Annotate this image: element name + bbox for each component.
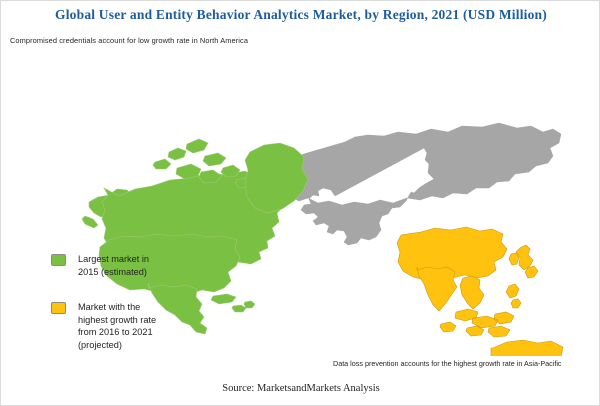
country-korea	[509, 253, 519, 265]
legend-label-green: Largest market in 2015 (estimated)	[78, 253, 149, 278]
country-philippines	[506, 284, 521, 308]
legend-item-largest-market: Largest market in 2015 (estimated)	[51, 253, 201, 278]
legend-orange-line2: highest growth rate	[78, 314, 156, 327]
country-japan	[516, 245, 538, 278]
legend-label-orange: Market with the highest growth rate from…	[78, 301, 156, 351]
country-india	[417, 267, 457, 311]
legend-swatch-green	[51, 254, 66, 266]
apac-annotation: Data loss prevention accounts for the hi…	[333, 359, 583, 368]
map-region-rest-of-world	[286, 123, 561, 245]
region-indonesia	[440, 309, 514, 337]
country-greenland	[245, 143, 308, 213]
legend-orange-line1: Market with the	[78, 301, 156, 314]
chart-container: Global User and Entity Behavior Analytic…	[0, 0, 600, 406]
legend-item-highest-growth: Market with the highest growth rate from…	[51, 301, 201, 351]
legend-green-line1: Largest market in	[78, 253, 149, 266]
landmass-eurasia	[288, 123, 561, 245]
source-caption: Source: MarketsandMarkets Analysis	[1, 383, 600, 394]
legend-orange-line3: from 2016 to 2021	[78, 326, 156, 339]
country-australia	[491, 340, 566, 356]
page-title: Global User and Entity Behavior Analytic…	[1, 7, 600, 23]
legend-swatch-orange	[51, 302, 66, 314]
subtitle-annotation: Compromised credentials account for low …	[10, 36, 248, 45]
region-southeast-asia	[460, 276, 484, 309]
legend-orange-line4: (projected)	[78, 339, 156, 352]
map-region-asia-pacific	[397, 227, 589, 356]
legend-green-line2: 2015 (estimated)	[78, 266, 149, 279]
region-caribbean	[211, 294, 255, 312]
